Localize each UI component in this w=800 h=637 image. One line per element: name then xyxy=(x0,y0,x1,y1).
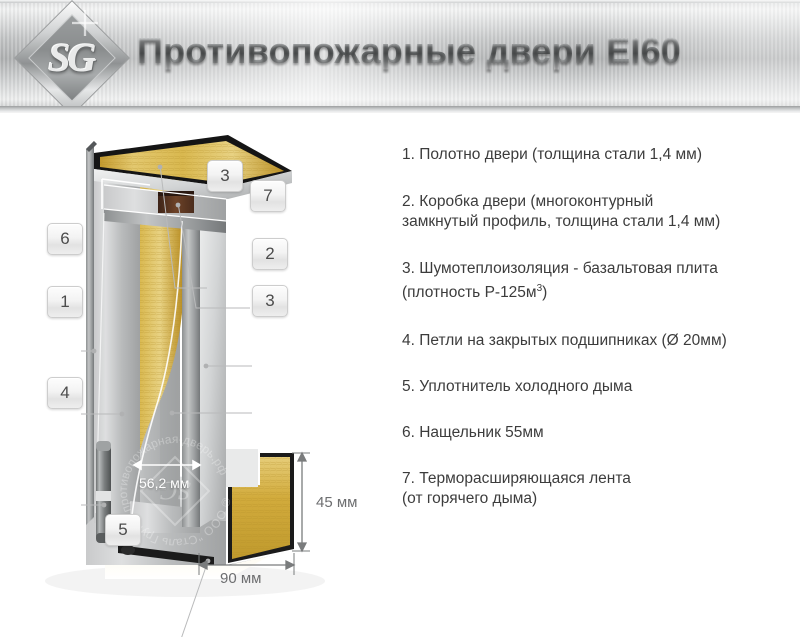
callout-4[interactable]: 4 xyxy=(47,377,83,409)
legend-item-5: 5. Уплотнитель холодного дыма xyxy=(402,377,632,397)
legend-item-3-text: 3. Шумотеплоизоляция - базальтовая плита… xyxy=(402,260,718,301)
callout-5[interactable]: 5 xyxy=(105,514,141,546)
logo-sparkle-icon xyxy=(72,10,98,36)
legend-item-3-tail: ) xyxy=(542,284,547,301)
company-logo: SG xyxy=(22,8,120,106)
legend-item-1: 1. Полотно двери (толщина стали 1,4 мм) xyxy=(402,145,702,165)
legend-item-4: 4. Петли на закрытых подшипниках (Ø 20мм… xyxy=(402,331,727,351)
content-area: © ООО "Сталь Групп" противопожарная-двер… xyxy=(0,113,800,637)
legend-item-2: 2. Коробка двери (многоконтурный замкнут… xyxy=(402,192,720,232)
callout-1[interactable]: 1 xyxy=(47,286,83,318)
dimension-height-label: 45 мм xyxy=(316,494,357,511)
legend-item-3: 3. Шумотеплоизоляция - базальтовая плита… xyxy=(402,259,718,303)
legend-item-7: 7. Терморасширяющаяся лента (от горячего… xyxy=(402,469,631,509)
page-title: Противопожарные двери EI60 xyxy=(137,30,681,72)
callout-7[interactable]: 7 xyxy=(250,180,286,212)
callout-3-mid[interactable]: 3 xyxy=(252,285,288,317)
legend-item-6: 6. Нащельник 55мм xyxy=(402,423,544,443)
header-bottom-edge xyxy=(0,106,800,113)
logo-monogram: SG xyxy=(22,8,120,106)
callout-2[interactable]: 2 xyxy=(252,238,288,270)
door-cross-section-diagram: © ООО "Сталь Групп" противопожарная-двер… xyxy=(0,113,400,637)
callout-3-top[interactable]: 3 xyxy=(207,160,243,192)
dimension-thickness-label: 56,2 мм xyxy=(139,475,189,491)
dimension-width-label: 90 мм xyxy=(220,570,261,587)
page-header: SG Противопожарные двери EI60 Противопож… xyxy=(0,0,800,113)
callout-6[interactable]: 6 xyxy=(47,223,83,255)
header-top-highlight xyxy=(0,0,800,3)
